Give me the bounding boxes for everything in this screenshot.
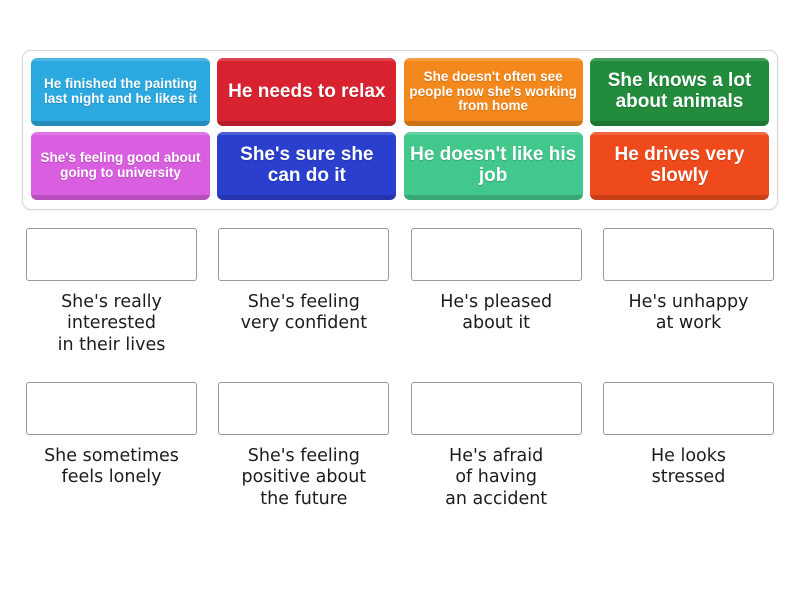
answer-cell: He's afraid of having an accident — [407, 382, 586, 510]
answer-label: She's feeling very confident — [241, 292, 368, 335]
tile-label: He drives very slowly — [594, 145, 765, 186]
answer-cell: She's feeling very confident — [214, 228, 393, 356]
answer-cell: She's really interested in their lives — [22, 228, 201, 356]
tile-label: She's feeling good about going to univer… — [35, 151, 206, 180]
tile-label: He doesn't like his job — [408, 145, 579, 186]
draggable-tile[interactable]: She's sure she can do it — [217, 132, 396, 200]
drop-zone[interactable] — [411, 382, 582, 435]
answer-row-bottom: She sometimes feels lonely She's feeling… — [22, 382, 778, 510]
answer-label: He looks stressed — [651, 446, 726, 489]
tile-row-bottom: She's feeling good about going to univer… — [31, 132, 769, 202]
answer-row-top: She's really interested in their lives S… — [22, 228, 778, 356]
draggable-tile[interactable]: He finished the painting last night and … — [31, 58, 210, 126]
tile-label: She doesn't often see people now she's w… — [408, 70, 579, 114]
answer-label: He's pleased about it — [440, 292, 552, 335]
tile-label: She's sure she can do it — [221, 145, 392, 186]
answer-label: She's feeling positive about the future — [241, 446, 366, 510]
tile-row-top: He finished the painting last night and … — [31, 58, 769, 128]
tile-label: He finished the painting last night and … — [35, 77, 206, 106]
draggable-tile[interactable]: She doesn't often see people now she's w… — [404, 58, 583, 126]
draggable-tile[interactable]: She's feeling good about going to univer… — [31, 132, 210, 200]
drop-zone[interactable] — [26, 228, 197, 281]
answer-label: He's unhappy at work — [628, 292, 748, 335]
draggable-tile[interactable]: He needs to relax — [217, 58, 396, 126]
tile-label: She knows a lot about animals — [594, 71, 765, 112]
answer-cell: She's feeling positive about the future — [214, 382, 393, 510]
draggable-tile[interactable]: She knows a lot about animals — [590, 58, 769, 126]
draggable-tile-tray: He finished the painting last night and … — [22, 50, 778, 210]
answer-label: She sometimes feels lonely — [44, 446, 179, 489]
draggable-tile[interactable]: He drives very slowly — [590, 132, 769, 200]
drop-zone[interactable] — [603, 382, 774, 435]
answer-cell: He's pleased about it — [407, 228, 586, 356]
answer-cell: He looks stressed — [599, 382, 778, 510]
answer-grid: She's really interested in their lives S… — [22, 228, 778, 536]
answer-label: She's really interested in their lives — [58, 292, 166, 356]
drop-zone[interactable] — [218, 228, 389, 281]
drop-zone[interactable] — [411, 228, 582, 281]
drop-zone[interactable] — [26, 382, 197, 435]
answer-label: He's afraid of having an accident — [445, 446, 547, 510]
answer-cell: He's unhappy at work — [599, 228, 778, 356]
drop-zone[interactable] — [218, 382, 389, 435]
draggable-tile[interactable]: He doesn't like his job — [404, 132, 583, 200]
tile-label: He needs to relax — [221, 82, 392, 103]
answer-cell: She sometimes feels lonely — [22, 382, 201, 510]
drop-zone[interactable] — [603, 228, 774, 281]
